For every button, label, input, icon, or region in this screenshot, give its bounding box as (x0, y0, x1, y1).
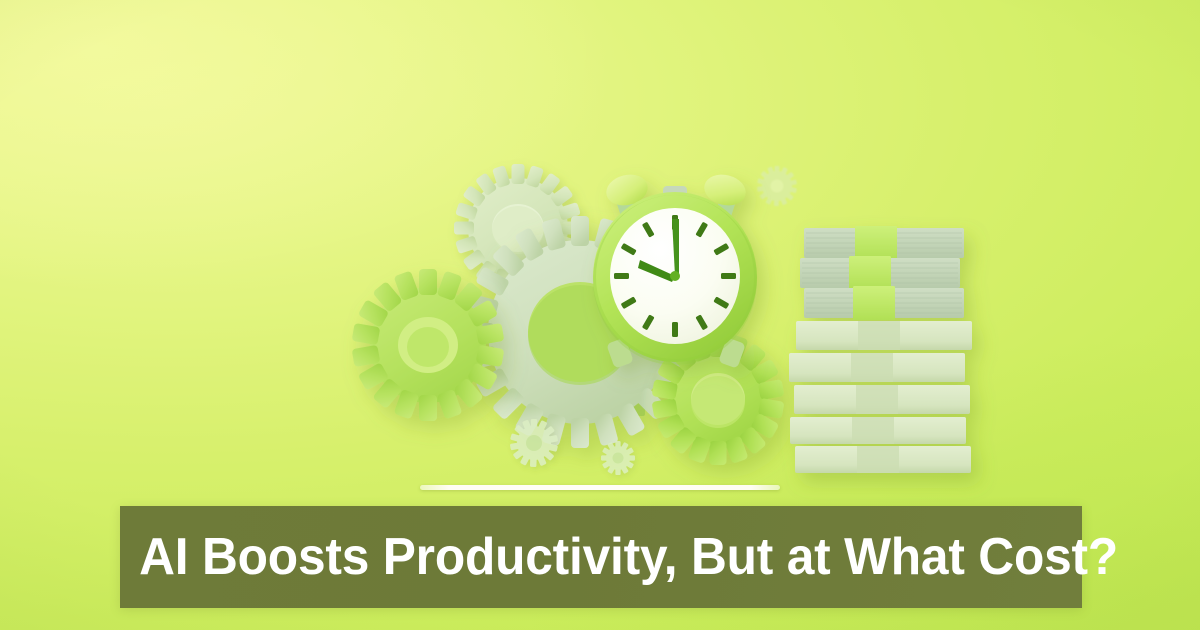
title-banner: AI Boosts Productivity, But at What Cost… (120, 506, 1082, 608)
social-share-card: AI Boosts Productivity, But at What Cost… (0, 0, 1200, 630)
page-title: AI Boosts Productivity, But at What Cost… (120, 531, 1118, 583)
white-rule-divider (420, 485, 780, 490)
